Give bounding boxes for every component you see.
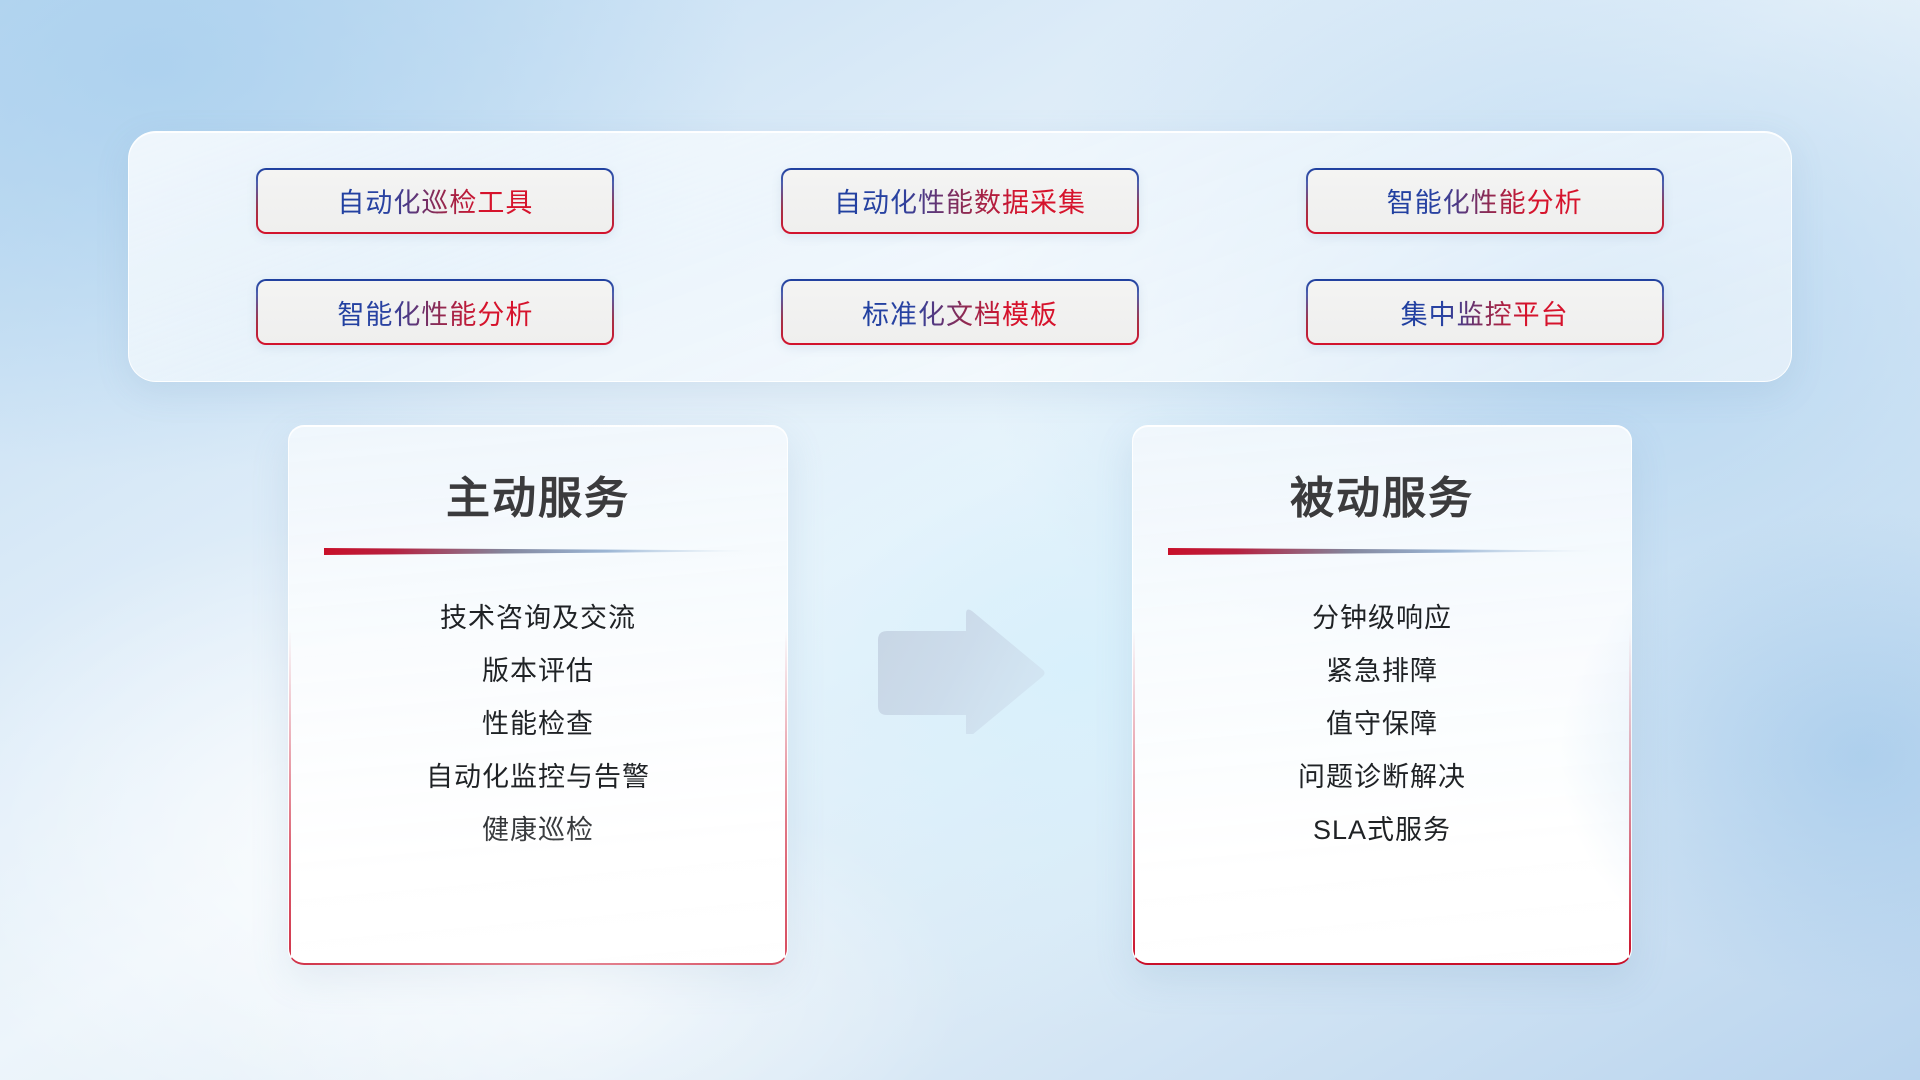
capability-pill-2-label: 自动化性能数据采集	[834, 181, 1086, 220]
capability-pill-1-label: 自动化巡检工具	[337, 181, 533, 220]
capability-pill-panel: 自动化巡检工具 自动化性能数据采集 智能化性能分析 智能化性能分析	[128, 131, 1792, 382]
right-arrow-icon	[872, 608, 1047, 734]
service-list-reactive: 分钟级响应 紧急排障 值守保障 问题诊断解决 SLA式服务	[1133, 592, 1631, 857]
list-item: 值守保障	[1133, 698, 1631, 751]
capability-pill-4-inner: 智能化性能分析	[258, 281, 612, 343]
list-item: 技术咨询及交流	[289, 592, 787, 645]
capability-pill-1-inner: 自动化巡检工具	[258, 170, 612, 232]
pill-grid: 自动化巡检工具 自动化性能数据采集 智能化性能分析 智能化性能分析	[129, 132, 1791, 381]
card-title-reactive: 被动服务	[1133, 462, 1631, 526]
capability-pill-6-inner: 集中监控平台	[1308, 281, 1662, 343]
service-card-proactive: 主动服务 技术咨询及交流 版本评估 性能检查	[288, 425, 788, 965]
capability-pill-4[interactable]: 智能化性能分析	[256, 279, 614, 345]
capability-pill-4-label: 智能化性能分析	[337, 293, 533, 332]
card-divider-proactive	[324, 544, 752, 558]
capability-pill-5-inner: 标准化文档模板	[783, 281, 1137, 343]
diagram-canvas: 自动化巡检工具 自动化性能数据采集 智能化性能分析 智能化性能分析	[0, 0, 1920, 1080]
list-item: 自动化监控与告警	[289, 751, 787, 804]
service-list-proactive: 技术咨询及交流 版本评估 性能检查 自动化监控与告警 健康巡检	[289, 592, 787, 857]
service-card-reactive: 被动服务 分钟级响应 紧急排障 值守保障	[1132, 425, 1632, 965]
capability-pill-3-label: 智能化性能分析	[1387, 181, 1583, 220]
list-item: 问题诊断解决	[1133, 751, 1631, 804]
capability-pill-2[interactable]: 自动化性能数据采集	[781, 168, 1139, 234]
card-divider-reactive	[1168, 544, 1596, 558]
capability-pill-6[interactable]: 集中监控平台	[1306, 279, 1664, 345]
list-item: 版本评估	[289, 645, 787, 698]
list-item: SLA式服务	[1133, 804, 1631, 857]
list-item: 性能检查	[289, 698, 787, 751]
capability-pill-6-label: 集中监控平台	[1401, 293, 1569, 332]
capability-pill-3[interactable]: 智能化性能分析	[1306, 168, 1664, 234]
capability-pill-2-inner: 自动化性能数据采集	[783, 170, 1137, 232]
capability-pill-5[interactable]: 标准化文档模板	[781, 279, 1139, 345]
capability-pill-1[interactable]: 自动化巡检工具	[256, 168, 614, 234]
list-item: 健康巡检	[289, 804, 787, 857]
list-item: 分钟级响应	[1133, 592, 1631, 645]
card-title-proactive: 主动服务	[289, 462, 787, 526]
capability-pill-5-label: 标准化文档模板	[862, 293, 1058, 332]
capability-pill-3-inner: 智能化性能分析	[1308, 170, 1662, 232]
list-item: 紧急排障	[1133, 645, 1631, 698]
